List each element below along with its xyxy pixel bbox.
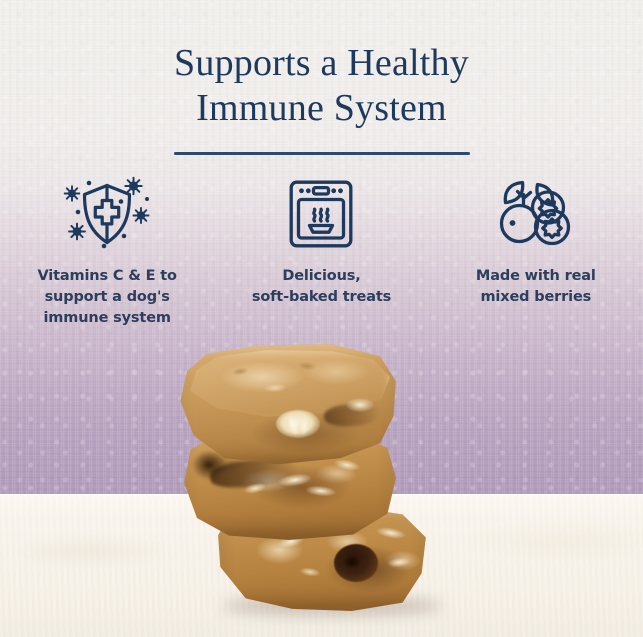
page-title: Supports a Healthy Immune System — [0, 41, 643, 131]
feature-list: Vitamins C & E to support a dog's immune… — [0, 176, 643, 329]
feature-caption-immune-support: Vitamins C & E to support a dog's immune… — [37, 266, 176, 329]
feature-item-soft-baked: Delicious, soft-baked treats — [214, 176, 428, 329]
feature-caption-soft-baked: Delicious, soft-baked treats — [252, 266, 391, 308]
berry-inclusion-core — [344, 556, 360, 568]
oat-bit — [346, 398, 374, 412]
title-divider — [174, 152, 470, 155]
feature-item-immune-support: Vitamins C & E to support a dog's immune… — [0, 176, 214, 329]
page-title-line-1: Supports a Healthy — [174, 42, 469, 84]
berries-icon — [492, 176, 580, 252]
feature-item-real-berries: Made with real mixed berries — [429, 176, 643, 329]
product-photo-treat-stack — [176, 338, 472, 621]
product-feature-poster: Supports a Healthy Immune System — [0, 0, 643, 637]
treat-top — [176, 344, 398, 468]
shield-cross-germs-icon — [55, 176, 159, 252]
page-title-line-2: Immune System — [0, 86, 643, 131]
oven-baking-icon — [288, 176, 354, 252]
feature-caption-real-berries: Made with real mixed berries — [476, 266, 596, 308]
